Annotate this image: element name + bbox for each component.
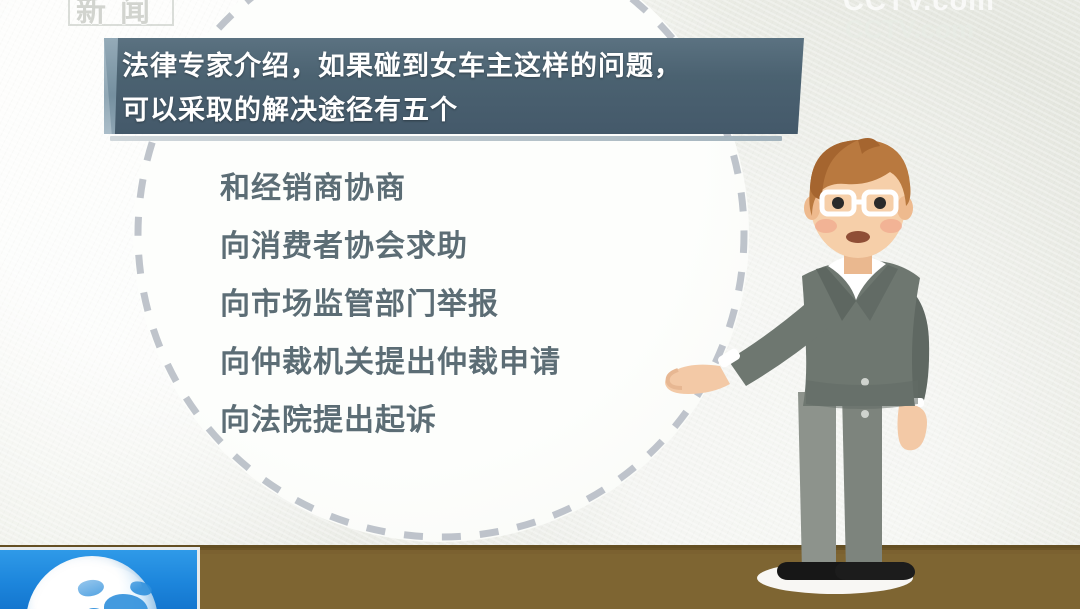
- globe-icon: [26, 556, 158, 609]
- headline-underline: [110, 136, 782, 141]
- headline-text: 法律专家介绍，如果碰到女车主这样的问题， 可以采取的解决途径有五个: [122, 44, 798, 132]
- list-item: 向仲裁机关提出仲裁申请: [220, 334, 690, 392]
- channel-watermark: 新闻: [76, 0, 164, 30]
- broadcast-graphic-stage: 法律专家介绍，如果碰到女车主这样的问题， 可以采取的解决途径有五个 和经销商协商…: [0, 0, 1080, 609]
- list-item: 和经销商协商: [220, 160, 690, 218]
- list-item: 向法院提出起诉: [220, 392, 690, 450]
- presenter-character: [660, 130, 980, 609]
- site-watermark-ghost: CCTV.com: [845, 14, 974, 45]
- list-item: 向市场监管部门举报: [220, 276, 690, 334]
- list-item: 向消费者协会求助: [220, 218, 690, 276]
- headline-line-1: 法律专家介绍，如果碰到女车主这样的问题，: [122, 44, 798, 88]
- globe-highlight: [62, 566, 142, 609]
- globe-logo-bug: [0, 547, 200, 609]
- headline-line-2: 可以采取的解决途径有五个: [122, 88, 798, 132]
- solutions-list: 和经销商协商 向消费者协会求助 向市场监管部门举报 向仲裁机关提出仲裁申请 向法…: [220, 160, 690, 450]
